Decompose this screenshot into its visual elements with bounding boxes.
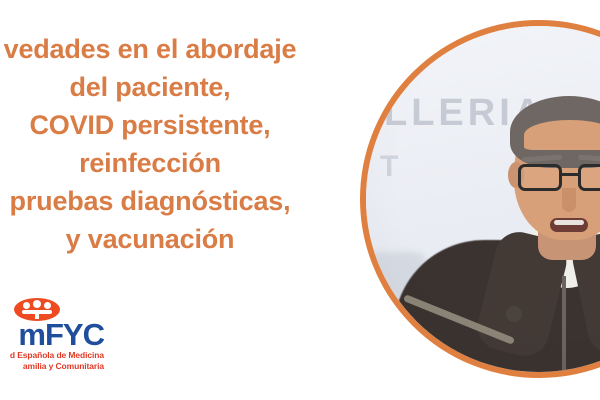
headline-line-6: y vacunación bbox=[0, 220, 346, 258]
semfyc-wordmark: mFYC bbox=[0, 319, 104, 350]
speaker-mouth bbox=[550, 218, 588, 232]
page-title: vedades en el abordaje del paciente, COV… bbox=[0, 30, 346, 258]
backdrop-text-secondary: T bbox=[380, 150, 401, 184]
semfyc-tagline-line-1: d Española de Medicina bbox=[0, 350, 104, 361]
speaker-portrait: LLERIA T bbox=[360, 20, 600, 378]
semfyc-tagline-line-2: amilia y Comunitaria bbox=[0, 361, 104, 372]
semfyc-tagline: d Española de Medicina amilia y Comunita… bbox=[0, 350, 104, 371]
speaker-forehead bbox=[524, 120, 600, 150]
semfyc-logo: mFYC d Española de Medicina amilia y Com… bbox=[0, 298, 104, 378]
headline-line-2: del paciente, bbox=[0, 68, 346, 106]
slide-canvas: vedades en el abordaje del paciente, COV… bbox=[0, 0, 600, 400]
glasses-icon bbox=[516, 164, 600, 192]
headline-line-1: vedades en el abordaje bbox=[0, 30, 346, 68]
jacket-zipper bbox=[562, 276, 566, 378]
logo-lockup: mFYC d Española de Medicina amilia y Com… bbox=[0, 296, 330, 382]
headline-line-3: COVID persistente, bbox=[0, 106, 346, 144]
headline-line-5: pruebas diagnósticas, bbox=[0, 182, 346, 220]
headline-line-4: reinfección bbox=[0, 144, 346, 182]
speaker-nose bbox=[562, 188, 576, 212]
